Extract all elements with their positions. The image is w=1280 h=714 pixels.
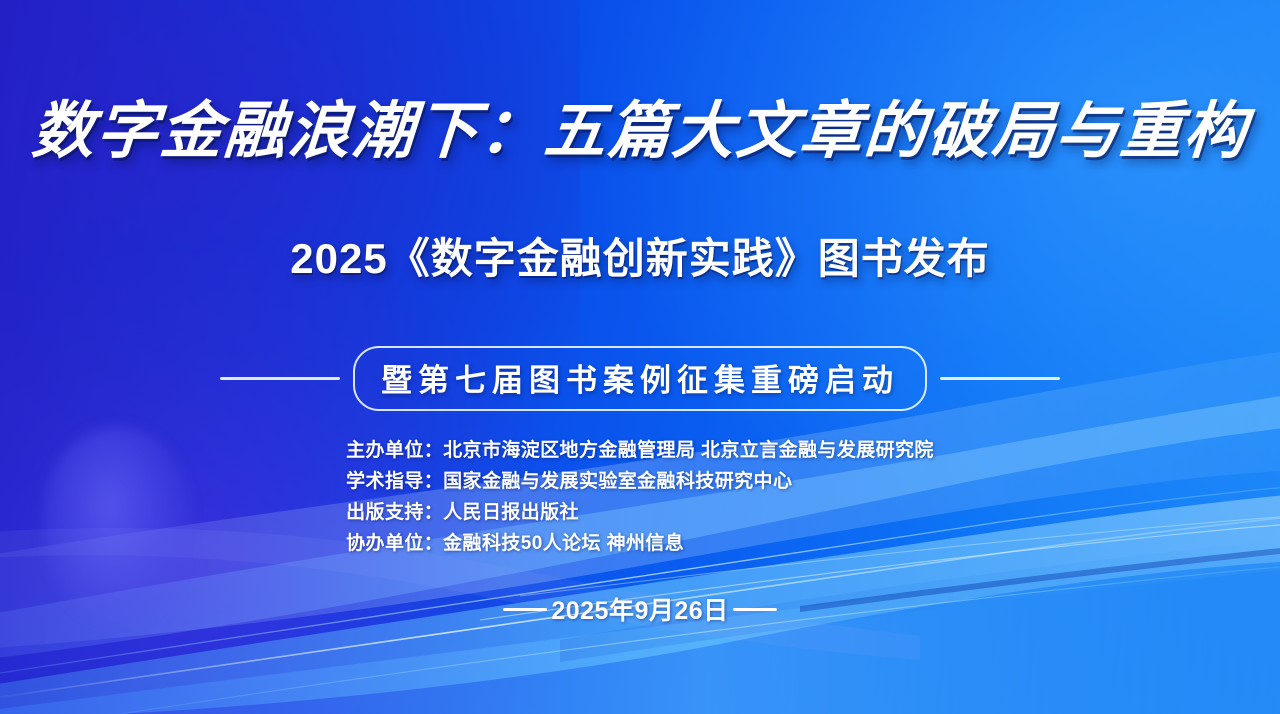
event-poster: 数字金融浪潮下：五篇大文章的破局与重构 2025《数字金融创新实践》图书发布 暨… bbox=[0, 0, 1280, 714]
page-subtitle: 2025《数字金融创新实践》图书发布 bbox=[290, 225, 989, 286]
event-date: 2025年9月26日 bbox=[551, 591, 728, 627]
info-line-coorganizer: 协办单位：金融科技50人论坛 神州信息 bbox=[346, 528, 684, 555]
pill-banner-row: 暨第七届图书案例征集重磅启动 bbox=[220, 346, 1060, 411]
info-line-host: 主办单位：北京市海淀区地方金融管理局 北京立言金融与发展研究院 bbox=[346, 435, 934, 462]
info-line-publisher: 出版支持：人民日报出版社 bbox=[346, 497, 579, 524]
pill-banner-label: 暨第七届图书案例征集重磅启动 bbox=[353, 346, 927, 411]
date-dash-left bbox=[503, 608, 547, 611]
divider-line-left bbox=[220, 377, 340, 380]
divider-line-right bbox=[940, 377, 1060, 380]
event-date-row: 2025年9月26日 bbox=[503, 591, 776, 627]
page-title: 数字金融浪潮下：五篇大文章的破局与重构 bbox=[30, 100, 1251, 165]
info-line-academic: 学术指导：国家金融与发展实验室金融科技研究中心 bbox=[346, 466, 792, 493]
organizer-info-block: 主办单位：北京市海淀区地方金融管理局 北京立言金融与发展研究院 学术指导：国家金… bbox=[346, 435, 934, 555]
date-dash-right bbox=[733, 608, 777, 611]
poster-content: 数字金融浪潮下：五篇大文章的破局与重构 2025《数字金融创新实践》图书发布 暨… bbox=[0, 0, 1280, 714]
